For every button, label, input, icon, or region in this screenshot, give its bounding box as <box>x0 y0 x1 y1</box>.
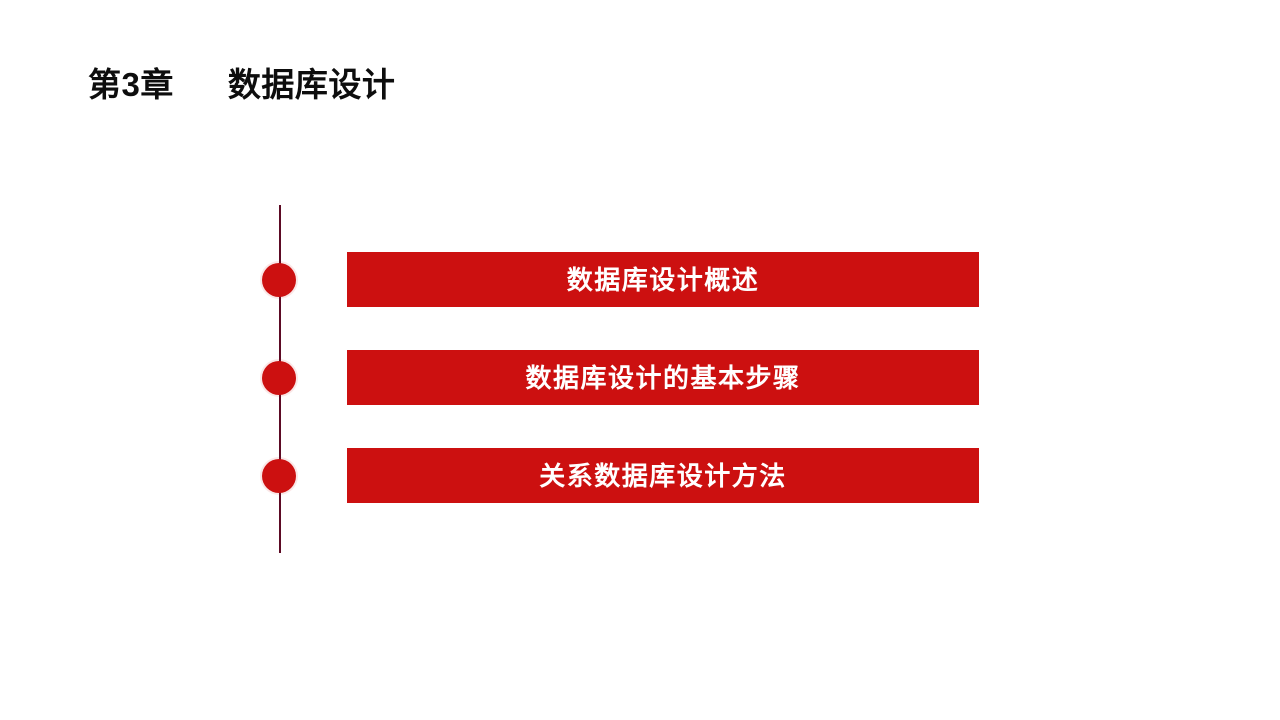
agenda-bar-label: 关系数据库设计方法 <box>539 463 787 489</box>
agenda-bar-1[interactable]: 数据库设计概述 <box>347 252 979 307</box>
agenda-item-3[interactable]: 关系数据库设计方法 <box>0 448 1280 504</box>
agenda-bar-label: 数据库设计的基本步骤 <box>525 365 800 391</box>
presentation-slide: 第3章数据库设计 数据库设计概述 数据库设计的基本步骤 关系数据库设计方法 <box>0 0 1280 720</box>
agenda-bar-label: 数据库设计概述 <box>567 267 760 293</box>
bullet-dot-icon <box>262 459 296 493</box>
agenda-item-1[interactable]: 数据库设计概述 <box>0 252 1280 308</box>
agenda-item-2[interactable]: 数据库设计的基本步骤 <box>0 350 1280 406</box>
bullet-dot-icon <box>262 361 296 395</box>
page-title-chapter: 第3章 <box>88 66 174 104</box>
agenda-bar-3[interactable]: 关系数据库设计方法 <box>347 448 979 503</box>
page-title-main: 数据库设计 <box>228 66 396 104</box>
bullet-dot-icon <box>262 263 296 297</box>
page-title: 第3章数据库设计 <box>88 66 395 104</box>
agenda-bar-2[interactable]: 数据库设计的基本步骤 <box>347 350 979 405</box>
